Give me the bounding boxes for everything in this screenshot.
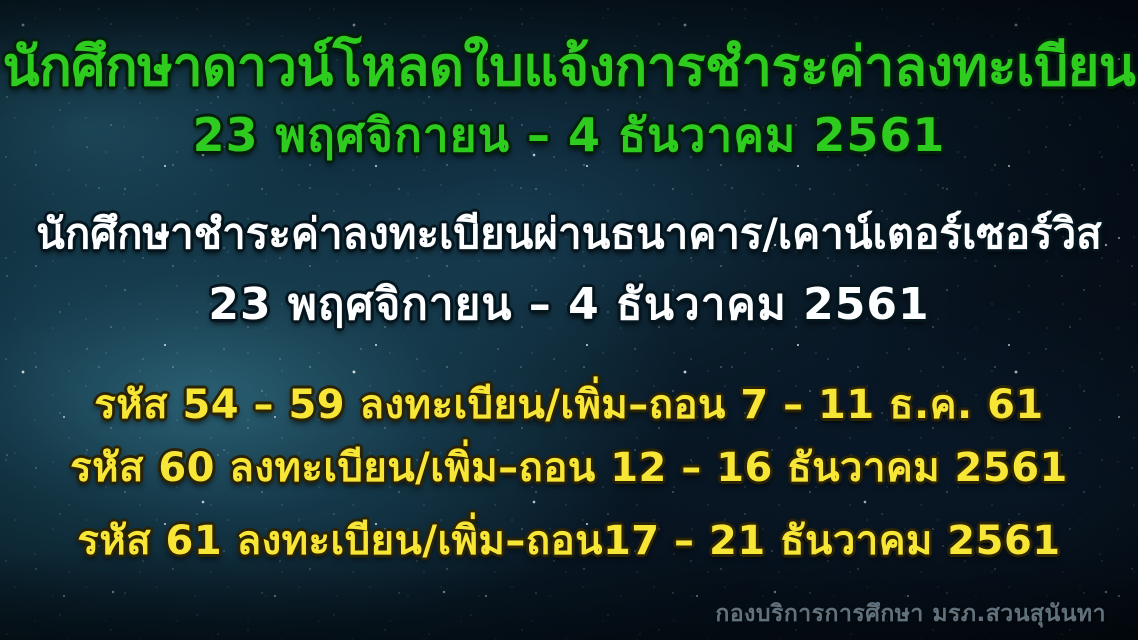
schedule-row-code-61: รหัส 61 ลงทะเบียน/เพิ่ม–ถอน17 – 21 ธันวา… — [0, 521, 1138, 561]
heading-line-1: นักศึกษาดาวน์โหลดใบแจ้งการชำระค่าลงทะเบี… — [0, 40, 1138, 94]
schedule-row-code-60: รหัส 60 ลงทะเบียน/เพิ่ม–ถอน 12 – 16 ธันว… — [0, 448, 1138, 488]
schedule-row-code-54-59: รหัส 54 – 59 ลงทะเบียน/เพิ่ม–ถอน 7 – 11 … — [0, 385, 1138, 425]
footer-credit: กองบริการการศึกษา มรภ.สวนสุนันทา — [715, 596, 1106, 632]
announcement-poster: นักศึกษาดาวน์โหลดใบแจ้งการชำระค่าลงทะเบี… — [0, 0, 1138, 640]
poster-content: นักศึกษาดาวน์โหลดใบแจ้งการชำระค่าลงทะเบี… — [0, 0, 1138, 640]
heading-line-2-dates: 23 พฤศจิกายน – 4 ธันวาคม 2561 — [0, 112, 1138, 158]
payment-notice-line-1: นักศึกษาชำระค่าลงทะเบียนผ่านธนาคาร/เคาน์… — [0, 213, 1138, 255]
payment-notice-line-2-dates: 23 พฤศจิกายน – 4 ธันวาคม 2561 — [0, 283, 1138, 327]
